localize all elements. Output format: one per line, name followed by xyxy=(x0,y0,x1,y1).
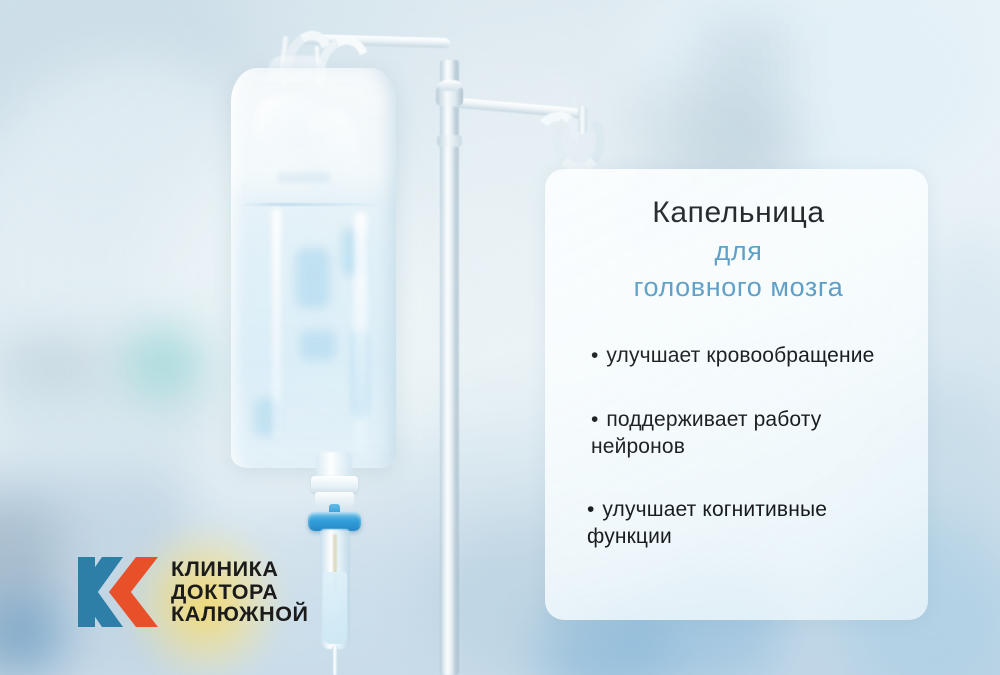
page-subtitle-line-1: для xyxy=(571,235,906,268)
iv-bag-tint-a xyxy=(296,248,330,308)
card-title-block: Капельница для головного мозга xyxy=(571,195,906,304)
iv-bag-tint-c xyxy=(300,330,336,360)
list-item: • улучшает когнитивные функции xyxy=(575,496,906,551)
iv-pole-collar-lower xyxy=(437,135,462,147)
clinic-logo-text: КЛИНИКА ДОКТОРА КАЛЮЖНОЙ xyxy=(171,558,309,626)
bullet-marker-icon: • xyxy=(591,344,600,367)
list-item-label: улучшает кровообращение xyxy=(606,344,874,367)
list-item: • улучшает кровообращение xyxy=(575,342,906,369)
double-k-chevron-icon xyxy=(78,553,160,631)
list-item-label: поддерживает работу нейронов xyxy=(591,408,821,458)
bullet-marker-icon: • xyxy=(587,498,596,521)
benefits-list: • улучшает кровообращение • поддерживает… xyxy=(571,342,906,550)
iv-bag-fluid-level xyxy=(236,203,391,206)
iv-bag-fold-b xyxy=(300,108,360,198)
pole-hook-right-tip xyxy=(578,106,587,134)
drip-collar-upper xyxy=(311,476,358,493)
iv-pole-vertical xyxy=(440,60,459,675)
drip-outlet-tube xyxy=(332,645,338,675)
iv-bag-highlight-right xyxy=(354,212,367,452)
bullet-marker-icon: • xyxy=(591,408,600,431)
clinic-logo[interactable]: КЛИНИКА ДОКТОРА КАЛЮЖНОЙ xyxy=(78,553,309,631)
page-subtitle-line-2: головного мозга xyxy=(571,271,906,304)
logo-line-1: КЛИНИКА xyxy=(171,558,309,581)
iv-bag-highlight-left xyxy=(272,208,281,438)
logo-line-2: ДОКТОРА xyxy=(171,581,309,604)
promo-poster: Капельница для головного мозга • улучшае… xyxy=(0,0,1000,675)
info-card: Капельница для головного мозга • улучшае… xyxy=(545,169,928,620)
list-item-label: улучшает когнитивные функции xyxy=(587,498,827,548)
list-item: • поддерживает работу нейронов xyxy=(575,406,906,461)
logo-line-3: КАЛЮЖНОЙ xyxy=(171,603,309,626)
drip-chamber-fluid xyxy=(323,572,347,644)
iv-pole-cap xyxy=(438,80,462,91)
page-title: Капельница xyxy=(571,195,906,230)
iv-bag-embossed-label xyxy=(278,172,330,183)
